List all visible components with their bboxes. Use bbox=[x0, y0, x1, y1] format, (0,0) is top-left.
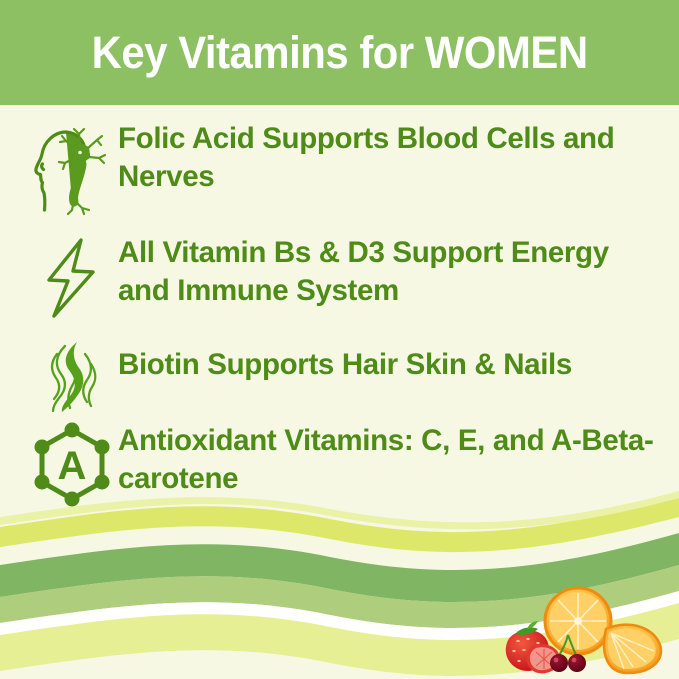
benefits-list: Folic Acid Supports Blood Cells and Nerv… bbox=[0, 118, 679, 530]
hair-strands-icon bbox=[26, 340, 118, 414]
benefit-text: Folic Acid Supports Blood Cells and Nerv… bbox=[118, 118, 655, 197]
orange-half-icon bbox=[545, 588, 611, 654]
benefit-item-biotin: Biotin Supports Hair Skin & Nails bbox=[0, 340, 679, 418]
orange-wedge-icon bbox=[604, 625, 661, 673]
fruit-cluster bbox=[478, 583, 668, 675]
benefit-text: Biotin Supports Hair Skin & Nails bbox=[118, 340, 655, 384]
benefit-text: All Vitamin Bs & D3 Support Energy and I… bbox=[118, 230, 655, 311]
poster: Key Vitamins for WOMEN bbox=[0, 0, 679, 679]
hexagon-letter: A bbox=[58, 444, 87, 488]
header-band: Key Vitamins for WOMEN bbox=[0, 0, 679, 105]
benefit-item-vitamin-b-d3: All Vitamin Bs & D3 Support Energy and I… bbox=[0, 230, 679, 340]
head-neuron-icon bbox=[26, 118, 118, 216]
lightning-bolt-icon bbox=[26, 230, 118, 322]
benefit-text: Antioxidant Vitamins: C, E, and A-Beta-c… bbox=[118, 418, 655, 499]
page-title: Key Vitamins for WOMEN bbox=[92, 27, 588, 79]
benefit-item-folic-acid: Folic Acid Supports Blood Cells and Nerv… bbox=[0, 118, 679, 230]
